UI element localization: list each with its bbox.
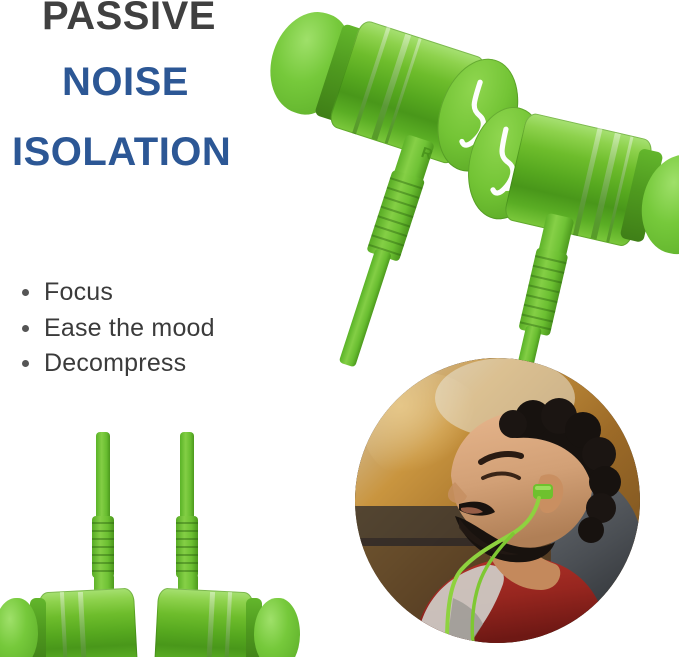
headline-line-isolation: ISOLATION [12, 132, 231, 172]
strain-relief [518, 247, 568, 336]
product-marketing-image: PASSIVE NOISE ISOLATION Focus Ease the m… [0, 0, 679, 657]
headline-line-passive: PASSIVE [42, 0, 216, 36]
earphone-cable [180, 432, 194, 522]
feature-item-ease-the-mood: Ease the mood [16, 311, 286, 347]
strain-relief [92, 516, 114, 578]
lifestyle-photo [355, 358, 640, 643]
feature-item-decompress: Decompress [16, 346, 286, 382]
headline-line-noise: NOISE [62, 62, 189, 102]
strain-relief [176, 516, 198, 578]
ear-tip [254, 598, 300, 657]
strain-relief [366, 170, 425, 262]
earphone-cable [96, 432, 110, 522]
earbud-barrel [38, 588, 138, 657]
earphone-cable [339, 248, 392, 367]
feature-item-focus: Focus [16, 275, 286, 311]
secondary-earbud-right [152, 432, 312, 652]
lifestyle-photo-illustration [355, 358, 640, 643]
feature-bullet-list: Focus Ease the mood Decompress [16, 275, 286, 382]
earbud-barrel [154, 588, 254, 657]
